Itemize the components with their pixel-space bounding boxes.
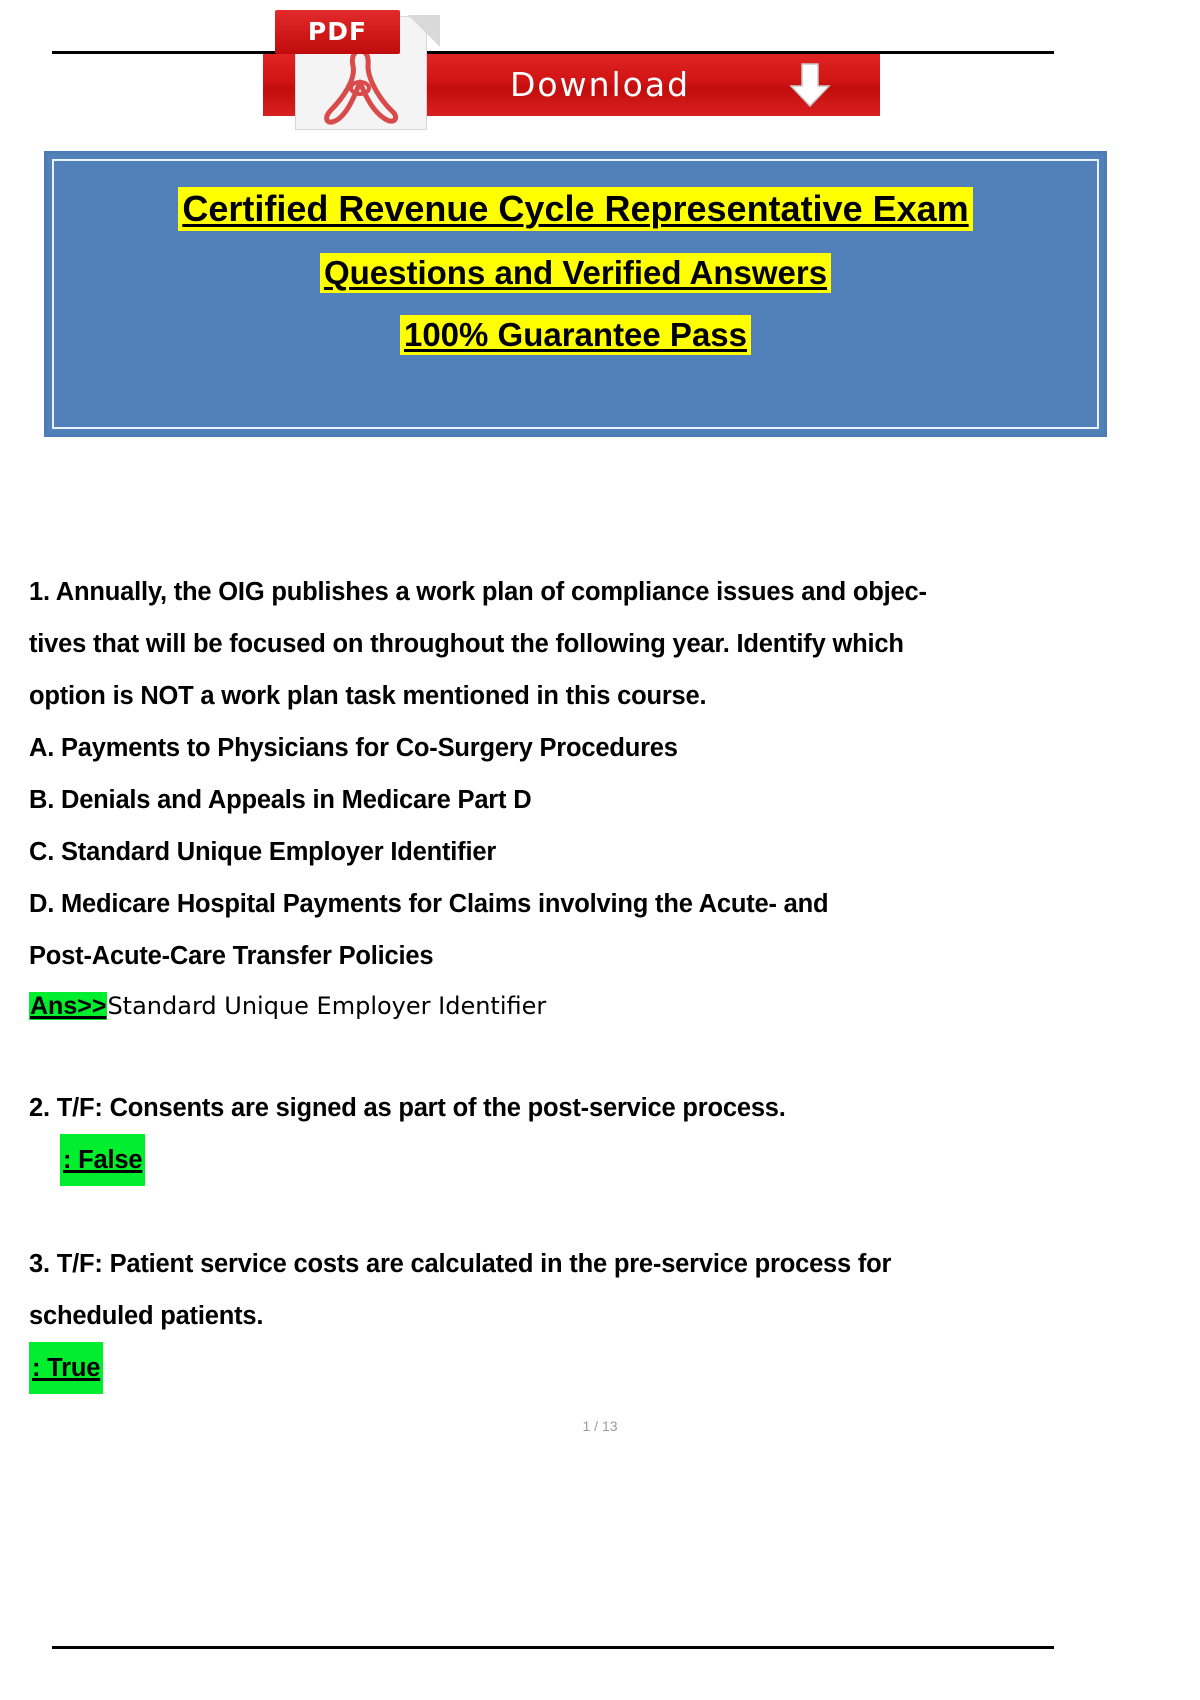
answer-line: : False [29,1134,1119,1186]
download-button-label: Download [510,60,780,110]
exam-body: 1. Annually, the OIG publishes a work pl… [29,566,1119,1394]
question-option-d: D. Medicare Hospital Payments for Claims… [29,878,1119,930]
exam-title-line-3: 100% Guarantee Pass [400,315,751,355]
question-stem-line: 3. T/F: Patient service costs are calcul… [29,1238,1119,1290]
question-option-d-cont: Post-Acute-Care Transfer Policies [29,930,1119,982]
question-stem-line: scheduled patients. [29,1290,1119,1342]
block-spacer [29,1030,1119,1082]
exam-title-line-1: Certified Revenue Cycle Representative E… [178,187,972,231]
pdf-badge-label: PDF [275,10,400,54]
question-block: 2. T/F: Consents are signed as part of t… [29,1082,1119,1186]
answer-value: : False [60,1134,145,1186]
question-option-a: A. Payments to Physicians for Co-Surgery… [29,722,1119,774]
answer-text: Standard Unique Employer Identifier [107,992,546,1020]
pdf-swirl-glyph [313,48,408,128]
pdf-file-icon: PDF [275,6,440,128]
page-indicator: 1 / 13 [0,1418,1200,1434]
question-stem-line: 2. T/F: Consents are signed as part of t… [29,1082,1119,1134]
question-option-c: C. Standard Unique Employer Identifier [29,826,1119,878]
question-stem-line: option is NOT a work plan task mentioned… [29,670,1119,722]
download-banner: Download PDF [0,0,1200,140]
question-stem-line: 1. Annually, the OIG publishes a work pl… [29,566,1119,618]
exam-title-line-2: Questions and Verified Answers [320,253,831,293]
pdf-fold-corner [408,15,440,47]
block-spacer [29,1186,1119,1238]
answer-tag: Ans>> [29,992,107,1020]
down-arrow-icon [785,60,835,110]
answer-value: : True [29,1342,103,1394]
question-block: 1. Annually, the OIG publishes a work pl… [29,566,1119,1030]
exam-title-box: Certified Revenue Cycle Representative E… [44,151,1107,437]
answer-line: : True [29,1342,1119,1394]
answer-line: Ans>>Standard Unique Employer Identifier [29,982,1119,1030]
question-stem-line: tives that will be focused on throughout… [29,618,1119,670]
question-block: 3. T/F: Patient service costs are calcul… [29,1238,1119,1394]
footer-rule [52,1646,1054,1649]
question-option-b: B. Denials and Appeals in Medicare Part … [29,774,1119,826]
exam-title-box-inner: Certified Revenue Cycle Representative E… [52,159,1099,429]
